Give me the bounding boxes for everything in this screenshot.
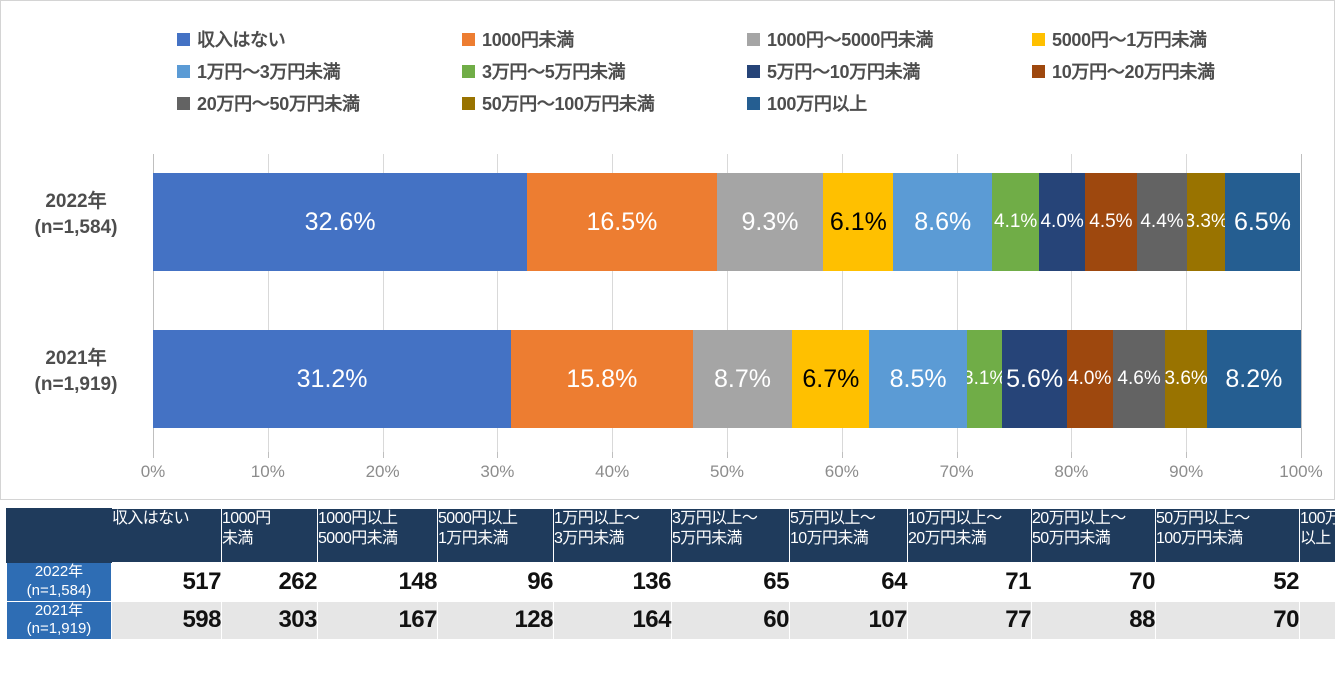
bar-segment: 4.0% <box>1067 330 1113 428</box>
bar-segment: 32.6% <box>153 173 527 271</box>
column-header-line2: 5万円未満 <box>672 529 789 549</box>
legend-swatch-icon <box>1032 65 1045 78</box>
gridline <box>1301 154 1302 452</box>
data-table: 収入はない1000円未満1000円以上5000円未満5000円以上1万円未満1万… <box>6 508 1335 640</box>
category-label-n: (n=1,584) <box>7 215 145 241</box>
legend-item-label: 3万円〜5万円未満 <box>482 58 625 84</box>
bar-segment-label: 6.5% <box>1234 208 1291 237</box>
bar-segment-label: 3.6% <box>1165 368 1206 390</box>
legend-item-label: 100万円以上 <box>767 90 867 116</box>
tick-mark <box>1071 452 1072 458</box>
table-body: 2022年(n=1,584)51726214896136656471705210… <box>7 563 1335 640</box>
legend-swatch-icon <box>177 97 190 110</box>
bar-segment: 3.3% <box>1187 173 1225 271</box>
table-cell: 65 <box>672 563 790 602</box>
legend-item[interactable]: 100万円以上 <box>747 87 1007 119</box>
tick-mark <box>957 452 958 458</box>
table-cell: 128 <box>438 601 554 640</box>
table-column-header: 3万円以上〜5万円未満 <box>672 509 790 563</box>
table-header-row: 収入はない1000円未満1000円以上5000円未満5000円以上1万円未満1万… <box>7 509 1335 563</box>
table-column-header: 5000円以上1万円未満 <box>438 509 554 563</box>
legend-item[interactable]: 50万円〜100万円未満 <box>462 87 747 119</box>
bar-segment-label: 16.5% <box>586 208 657 237</box>
table-cell: 517 <box>112 563 222 602</box>
bar-segment-label: 32.6% <box>305 208 376 237</box>
legend-swatch-icon <box>462 97 475 110</box>
x-tick-label: 0% <box>141 462 166 482</box>
column-header-line1: 1000円 <box>222 509 317 529</box>
table-head: 収入はない1000円未満1000円以上5000円未満5000円以上1万円未満1万… <box>7 509 1335 563</box>
table-cell: 598 <box>112 601 222 640</box>
x-tick-label: 40% <box>595 462 629 482</box>
bar-segment: 31.2% <box>153 330 511 428</box>
column-header-line1: 5万円以上〜 <box>790 509 907 529</box>
bar-segment-label: 4.0% <box>1068 368 1111 390</box>
table-cell: 148 <box>318 563 438 602</box>
table-column-header: 収入はない <box>112 509 222 563</box>
tick-mark <box>497 452 498 458</box>
table-column-header: 1000円以上5000円未満 <box>318 509 438 563</box>
x-tick-label: 60% <box>825 462 859 482</box>
x-axis-ticks: 0%10%20%30%40%50%60%70%80%90%100% <box>153 452 1301 482</box>
column-header-line1: 1000円以上 <box>318 509 437 529</box>
bar-segment: 4.4% <box>1137 173 1188 271</box>
table-column-header: 50万円以上〜100万円未満 <box>1156 509 1300 563</box>
chart-panel: 収入はない1000円未満1000円〜5000円未満5000円〜1万円未満1万円〜… <box>0 0 1335 500</box>
table-cell: 96 <box>438 563 554 602</box>
table-cell: 71 <box>908 563 1032 602</box>
table-cell: 70 <box>1156 601 1300 640</box>
column-header-line1: 20万円以上〜 <box>1032 509 1155 529</box>
table-cell: 52 <box>1156 563 1300 602</box>
bar-segment: 4.5% <box>1085 173 1137 271</box>
row-header-year: 2022年 <box>7 563 111 582</box>
bar-segment-label: 15.8% <box>566 365 637 394</box>
table-column-header: 1万円以上〜3万円未満 <box>554 509 672 563</box>
column-header-line1: 10万円以上〜 <box>908 509 1031 529</box>
table-row-header: 2022年(n=1,584) <box>7 563 112 602</box>
bar-segment-label: 6.1% <box>830 208 887 237</box>
table-cell: 60 <box>672 601 790 640</box>
bar-segment: 8.2% <box>1207 330 1301 428</box>
table-cell: 103 <box>1300 563 1335 602</box>
column-header-line2: 1万円未満 <box>438 529 553 549</box>
bar-segment-label: 8.7% <box>714 365 771 394</box>
legend-item-label: 50万円〜100万円未満 <box>482 90 654 116</box>
bar-segment: 15.8% <box>511 330 692 428</box>
x-tick-label: 30% <box>480 462 514 482</box>
table-column-header: 10万円以上〜20万円未満 <box>908 509 1032 563</box>
bar-segment: 3.1% <box>967 330 1003 428</box>
x-tick-label: 80% <box>1054 462 1088 482</box>
tick-mark <box>727 452 728 458</box>
tick-mark <box>842 452 843 458</box>
table-cell: 303 <box>222 601 318 640</box>
category-label: 2021年(n=1,919) <box>7 346 145 397</box>
legend-swatch-icon <box>1032 33 1045 46</box>
bar-segment-label: 8.6% <box>914 208 971 237</box>
x-tick-label: 20% <box>366 462 400 482</box>
legend-item[interactable]: 1000円未満 <box>462 23 747 55</box>
bar-segment: 6.5% <box>1225 173 1300 271</box>
legend-item-label: 10万円〜20万円未満 <box>1052 58 1215 84</box>
legend-swatch-icon <box>747 65 760 78</box>
bar-segment-label: 3.1% <box>967 368 1003 390</box>
bar-segment: 5.6% <box>1002 330 1066 428</box>
legend-swatch-icon <box>747 97 760 110</box>
legend-item-label: 収入はない <box>197 26 286 52</box>
bar-segment: 6.7% <box>792 330 869 428</box>
bar-segment-label: 8.5% <box>890 365 947 394</box>
legend-item[interactable]: 5万円〜10万円未満 <box>747 55 1032 87</box>
x-tick-label: 100% <box>1279 462 1322 482</box>
legend-item-label: 5万円〜10万円未満 <box>767 58 920 84</box>
data-table-wrapper: 収入はない1000円未満1000円以上5000円未満5000円以上1万円未満1万… <box>6 508 1331 640</box>
row-header-year: 2021年 <box>7 602 111 621</box>
legend-item[interactable]: 1000円〜5000円未満 <box>747 23 1032 55</box>
table-corner-cell <box>7 509 112 563</box>
column-header-line1: 50万円以上〜 <box>1156 509 1299 529</box>
column-header-line1: 5000円以上 <box>438 509 553 529</box>
column-header-line1: 100万円 <box>1300 509 1335 529</box>
legend-item[interactable]: 3万円〜5万円未満 <box>462 55 747 87</box>
bar-segment-label: 3.3% <box>1187 211 1225 233</box>
column-header-line2: 5000円未満 <box>318 529 437 549</box>
column-header-line2: 以上 <box>1300 529 1335 549</box>
chart-page: 収入はない1000円未満1000円〜5000円未満5000円〜1万円未満1万円〜… <box>0 0 1335 674</box>
legend-item-label: 1000円〜5000円未満 <box>767 26 933 52</box>
bar-segment: 8.5% <box>869 330 967 428</box>
table-cell: 136 <box>554 563 672 602</box>
legend-item[interactable]: 1万円〜3万円未満 <box>177 55 462 87</box>
bar-segment-label: 5.6% <box>1006 365 1063 394</box>
table-cell: 167 <box>318 601 438 640</box>
table-column-header: 100万円以上 <box>1300 509 1335 563</box>
bar-segment-label: 4.1% <box>994 211 1037 233</box>
table-column-header: 20万円以上〜50万円未満 <box>1032 509 1156 563</box>
bar-segment: 4.6% <box>1113 330 1166 428</box>
tick-mark <box>383 452 384 458</box>
legend-swatch-icon <box>177 33 190 46</box>
bar-segment-label: 4.0% <box>1040 211 1083 233</box>
column-header-line1: 3万円以上〜 <box>672 509 789 529</box>
legend-item-label: 1000円未満 <box>482 26 574 52</box>
table-row-header: 2021年(n=1,919) <box>7 601 112 640</box>
table-row: 2021年(n=1,919)59830316712816460107778870… <box>7 601 1335 640</box>
tick-mark <box>1186 452 1187 458</box>
legend-item[interactable]: 5000円〜1万円未満 <box>1032 23 1292 55</box>
table-cell: 77 <box>908 601 1032 640</box>
bar-segment-label: 6.7% <box>802 365 859 394</box>
legend-item-label: 20万円〜50万円未満 <box>197 90 360 116</box>
table-cell: 262 <box>222 563 318 602</box>
legend-swatch-icon <box>462 65 475 78</box>
category-label: 2022年(n=1,584) <box>7 189 145 240</box>
column-header-line2: 20万円未満 <box>908 529 1031 549</box>
legend-swatch-icon <box>462 33 475 46</box>
category-label-year: 2022年 <box>7 189 145 215</box>
column-header-line2: 50万円未満 <box>1032 529 1155 549</box>
stacked-bar: 31.2%15.8%8.7%6.7%8.5%3.1%5.6%4.0%4.6%3.… <box>153 330 1301 428</box>
plot-area: 32.6%16.5%9.3%6.1%8.6%4.1%4.0%4.5%4.4%3.… <box>153 154 1301 452</box>
tick-mark <box>268 452 269 458</box>
bar-segment: 6.1% <box>823 173 893 271</box>
bar-segment: 8.6% <box>893 173 992 271</box>
column-header-line2: 100万円未満 <box>1156 529 1299 549</box>
x-tick-label: 10% <box>251 462 285 482</box>
tick-mark <box>153 452 154 458</box>
column-header-line2: 10万円未満 <box>790 529 907 549</box>
table-cell: 64 <box>790 563 908 602</box>
bar-segment: 8.7% <box>693 330 793 428</box>
table-cell: 88 <box>1032 601 1156 640</box>
x-tick-label: 50% <box>710 462 744 482</box>
bar-segment-label: 9.3% <box>742 208 799 237</box>
bar-segment-label: 8.2% <box>1225 365 1282 394</box>
legend-item[interactable]: 収入はない <box>177 23 462 55</box>
bar-segment-label: 4.6% <box>1117 368 1160 390</box>
tick-mark <box>612 452 613 458</box>
column-header-line1: 収入はない <box>112 509 221 529</box>
table-column-header: 5万円以上〜10万円未満 <box>790 509 908 563</box>
column-header-line2: 未満 <box>222 529 317 549</box>
legend-item-label: 1万円〜3万円未満 <box>197 58 340 84</box>
x-tick-label: 90% <box>1169 462 1203 482</box>
stacked-bar: 32.6%16.5%9.3%6.1%8.6%4.1%4.0%4.5%4.4%3.… <box>153 173 1301 271</box>
row-header-n: (n=1,584) <box>7 582 111 601</box>
tick-mark <box>1301 452 1302 458</box>
bar-segment: 16.5% <box>527 173 716 271</box>
legend-swatch-icon <box>177 65 190 78</box>
table-column-header: 1000円未満 <box>222 509 318 563</box>
bar-segment-label: 4.5% <box>1089 211 1132 233</box>
legend-item[interactable]: 20万円〜50万円未満 <box>177 87 462 119</box>
legend-item-label: 5000円〜1万円未満 <box>1052 26 1207 52</box>
table-cell: 107 <box>790 601 908 640</box>
column-header-line1: 1万円以上〜 <box>554 509 671 529</box>
category-label-n: (n=1,919) <box>7 372 145 398</box>
bar-segment: 9.3% <box>717 173 824 271</box>
row-header-n: (n=1,919) <box>7 620 111 639</box>
table-cell: 70 <box>1032 563 1156 602</box>
bar-segment: 4.1% <box>992 173 1039 271</box>
bar-segment-label: 4.4% <box>1140 211 1183 233</box>
x-tick-label: 70% <box>940 462 974 482</box>
chart-legend: 収入はない1000円未満1000円〜5000円未満5000円〜1万円未満1万円〜… <box>177 23 1317 119</box>
table-cell: 164 <box>554 601 672 640</box>
category-label-year: 2021年 <box>7 346 145 372</box>
legend-item[interactable]: 10万円〜20万円未満 <box>1032 55 1292 87</box>
table-row: 2022年(n=1,584)51726214896136656471705210… <box>7 563 1335 602</box>
legend-swatch-icon <box>747 33 760 46</box>
column-header-line2: 3万円未満 <box>554 529 671 549</box>
bar-segment: 4.0% <box>1039 173 1085 271</box>
table-cell: 157 <box>1300 601 1335 640</box>
bar-segment: 3.6% <box>1165 330 1206 428</box>
bar-segment-label: 31.2% <box>297 365 368 394</box>
